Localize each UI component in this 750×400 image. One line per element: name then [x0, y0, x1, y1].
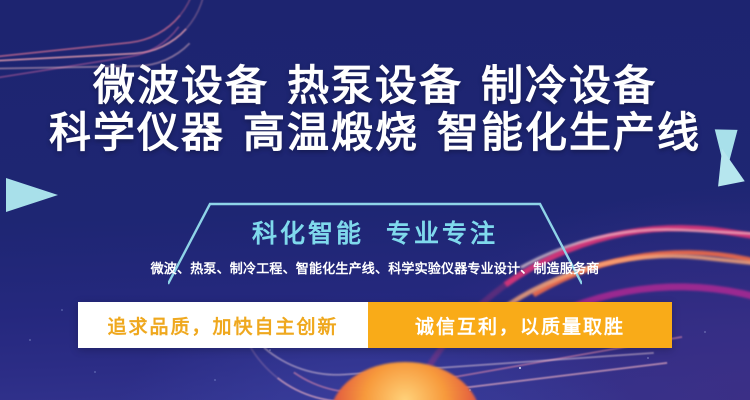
headline-line2-part1: 科学仪器 — [49, 109, 225, 156]
headline-line2-part3: 智能化生产线 — [437, 109, 701, 156]
headline-line1-part3: 制冷设备 — [481, 62, 657, 109]
panel-title-part2: 专业专注 — [386, 220, 498, 248]
slogan-right-segment: 诚信互利，以质量取胜 — [368, 302, 672, 348]
slogan-left-segment: 追求品质，加快自主创新 — [78, 302, 368, 348]
headline-line1-part2: 热泵设备 — [287, 62, 463, 109]
promotional-banner: 微波设备热泵设备制冷设备 科学仪器高温煅烧智能化生产线 科化智能专业专注 微波、… — [0, 0, 750, 400]
headline: 微波设备热泵设备制冷设备 科学仪器高温煅烧智能化生产线 — [0, 62, 750, 156]
headline-line2-part2: 高温煅烧 — [243, 109, 419, 156]
panel-title: 科化智能专业专注 — [168, 214, 582, 250]
slogan-bar: 追求品质，加快自主创新 诚信互利，以质量取胜 — [78, 302, 672, 348]
headline-line-1: 微波设备热泵设备制冷设备 — [0, 62, 750, 109]
left-triangle-icon — [6, 178, 58, 212]
panel-title-part1: 科化智能 — [252, 220, 364, 248]
headline-line1-part1: 微波设备 — [93, 62, 269, 109]
headline-line-2: 科学仪器高温煅烧智能化生产线 — [0, 109, 750, 156]
slogan-panel: 科化智能专业专注 微波、热泵、制冷工程、智能化生产线、科学实验仪器专业设计、制造… — [168, 202, 582, 286]
panel-subtitle: 微波、热泵、制冷工程、智能化生产线、科学实验仪器专业设计、制造服务商 — [90, 258, 660, 277]
